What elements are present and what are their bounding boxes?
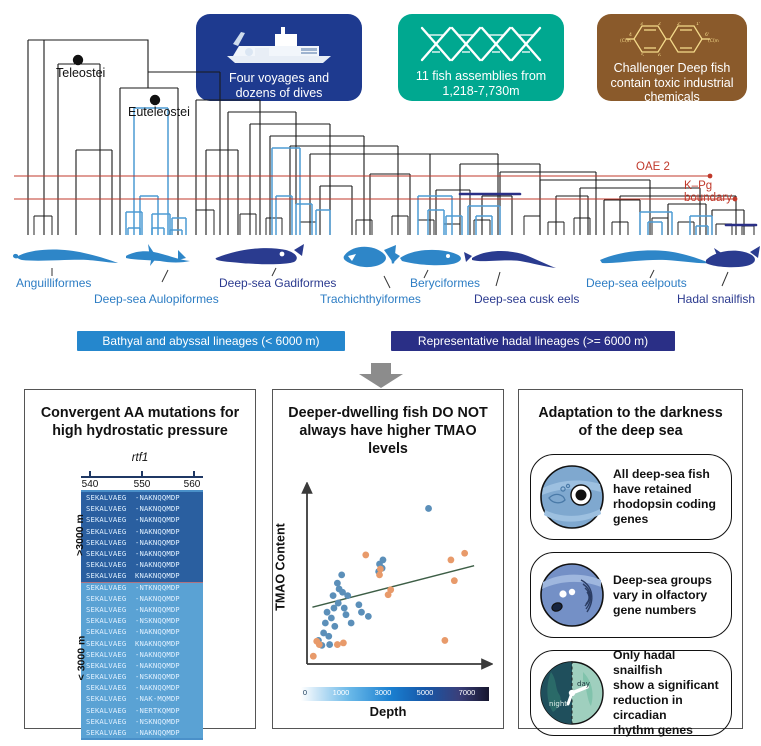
panel-left-title: Convergent AA mutations for high hydrost… [35,404,245,440]
panel-darkness-adaptation: Adaptation to the darkness of the deep s… [518,389,743,729]
alignment-seg-right: -NAK-MQMDP [135,694,195,703]
alignment-seg-right: -NAKNQQMDP [135,560,195,569]
scatter-point [343,611,350,618]
alignment-row: SEKALVAEG-NAKNQQMDP [81,537,203,548]
scatter-point [316,641,323,648]
epoch-label-kpg: K–Pg boundary [684,180,761,204]
depth-group-label-deep: >3000 m [74,514,86,556]
euteleostei-node-dot [150,95,160,105]
colorbar-tick-3000: 3000 [375,688,392,697]
fish-anguilliformes [13,250,118,263]
alignment-seg-left: SEKALVAEG [86,515,135,524]
scatter-point [461,550,468,557]
alignment-seg-right: -NAKNQQMDP [135,627,195,636]
legend-bathyal-abyssal: Bathyal and abyssal lineages (< 6000 m) [77,331,345,351]
scatter-point [377,566,384,573]
alignment-seg-left: SEKALVAEG [86,694,135,703]
alignment-row: SEKALVAEG-NAKNQQMDP [81,660,203,671]
tree-svg [0,0,761,250]
scatter-point [338,571,345,578]
fish-nose-icon [537,560,607,630]
axis-label-550: 550 [134,479,151,490]
alignment-seg-left: SEKALVAEG [86,627,135,636]
alignment-seg-right: -NAKNQQMDP [135,728,195,737]
fish-label-gadiformes: Deep-sea Gadiformes [219,276,336,290]
alignment-row: SEKALVAEG-NSKNQQMDP [81,716,203,727]
alignment-seg-right: -NSKNQQMDP [135,717,195,726]
alignment-seg-left: SEKALVAEG [86,616,135,625]
scatter-point [324,609,331,616]
scatter-plot: TMAO Content [285,482,493,678]
scatter-point [335,600,342,607]
scatter-point [334,641,341,648]
alignment-seg-left: SEKALVAEG [86,661,135,670]
axis-label-560: 560 [184,479,201,490]
finding-olfactory: Deep-sea groups vary in olfactory gene n… [530,552,732,638]
axis-tick-550 [141,471,143,478]
scatter-point [365,613,372,620]
alignment-seg-right: -NAKNQQMDP [135,515,195,524]
scatter-point [441,637,448,644]
finding-olfactory-text: Deep-sea groups vary in olfactory gene n… [613,573,718,618]
fish-label-trachichthyiformes: Trachichthyiformes [320,292,421,306]
alignment-seg-left: SEKALVAEG [86,639,135,648]
alignment-seg-right: -NERTKQMDP [135,706,195,715]
alignment-seg-left: SEKALVAEG [86,605,135,614]
legend-bathyal-text: Bathyal and abyssal lineages (< 6000 m) [102,334,319,348]
alignment-row: SEKALVAEG-NAKNQQMDP [81,492,203,503]
alignment-seg-right: KNAKNQQMDP [135,639,195,648]
alignment-seg-left: SEKALVAEG [86,583,135,592]
scatter-point [331,623,338,630]
panel-convergent-mutations: Convergent AA mutations for high hydrost… [24,389,256,729]
alignment-seg-left: SEKALVAEG [86,549,135,558]
alignment-seg-right: -NAKNQQMDP [135,493,195,502]
scatter-x-axis-label: Depth [273,704,503,719]
graphical-abstract: Four voyages and dozens of dives [0,0,761,746]
fish-gadiformes [216,244,304,264]
alignment-seg-right: -NTKNQQMDP [135,583,195,592]
scatter-point [362,552,369,559]
epoch-label-oae2: OAE 2 [636,161,670,173]
fish-eye-icon [537,462,607,532]
alignment-seg-right: -NAKNQQMDP [135,650,195,659]
axis-label-540: 540 [82,479,99,490]
alignment-row: SEKALVAEG-NTKNQQMDP [81,582,203,593]
fish-aulopiformes [126,244,190,266]
panel-right-title: Adaptation to the darkness of the deep s… [529,404,732,440]
residue-axis: 540 550 560 [81,468,203,490]
scatter-point [340,640,347,647]
alignment-seg-right: KNAKNQQMDP [135,571,195,580]
depth-group-label-shallow: < 3000 m [75,636,87,681]
scatter-point [355,601,362,608]
fish-label-aulopiformes: Deep-sea Aulopiformes [94,292,219,306]
sequence-alignment-block: SEKALVAEG-NAKNQQMDPSEKALVAEG-NAKNQQMDPSE… [81,490,203,740]
clock-day-night-icon: day night [537,658,607,728]
axis-tick-540 [89,471,91,478]
alignment-row: SEKALVAEGKNAKNQQMDP [81,570,203,581]
scatter-point [451,577,458,584]
alignment-seg-right: -NAKNQQMDP [135,527,195,536]
alignment-seg-right: -NSKNQQMDP [135,672,195,681]
colorbar-tick-0: 0 [303,688,307,697]
alignment-row: SEKALVAEG-NAKNQQMDP [81,526,203,537]
alignment-row: SEKALVAEGKNAKNQQMDP [81,637,203,648]
alignment-seg-left: SEKALVAEG [86,650,135,659]
finding-rhodopsin: All deep-sea fish have retained rhodopsi… [530,454,732,540]
oae2-marker [708,174,713,179]
fish-label-anguilliformes: Anguilliformes [16,276,91,290]
depth-colorbar: 0 1000 3000 5000 7000 [301,687,489,701]
finding-circadian: day night Only hadal snailfish show a si… [530,650,732,736]
alignment-seg-left: SEKALVAEG [86,504,135,513]
alignment-seg-left: SEKALVAEG [86,728,135,737]
alignment-row: SEKALVAEG-NAKNQQMDP [81,727,203,738]
svg-text:day: day [577,680,590,688]
fish-label-eelpouts: Deep-sea eelpouts [586,276,687,290]
scatter-point [376,571,383,578]
alignment-depth-divider [81,582,203,583]
scatter-point [387,586,394,593]
scatter-point [380,557,387,564]
scatter-point [425,505,432,512]
alignment-row: SEKALVAEG-NSKNQQMDP [81,615,203,626]
colorbar-tick-7000: 7000 [459,688,476,697]
down-arrow-icon [357,361,405,389]
colorbar-tick-5000: 5000 [417,688,434,697]
alignment-seg-left: SEKALVAEG [86,538,135,547]
scatter-points-layer [285,482,493,678]
alignment-row: SEKALVAEG-NAK-MQMDP [81,693,203,704]
alignment-row: SEKALVAEG-NAKNQQMDP [81,514,203,525]
fish-label-cusk-eels: Deep-sea cusk eels [474,292,579,306]
scatter-point [322,620,329,627]
alignment-row: SEKALVAEG-NAKNQQMDP [81,682,203,693]
alignment-row: SEKALVAEG-NAKNQQMDP [81,593,203,604]
alignment-seg-left: SEKALVAEG [86,706,135,715]
tree-label-teleostei: Teleostei [56,66,105,80]
teleostei-node-dot [73,55,83,65]
axis-tick-560 [193,471,195,478]
alignment-row: SEKALVAEG-NERTKQMDP [81,705,203,716]
alignment-seg-right: -NAKNQQMDP [135,594,195,603]
panel-tmao-scatter: Deeper-dwelling fish DO NOT always have … [272,389,504,729]
alignment-seg-left: SEKALVAEG [86,527,135,536]
phylogenetic-tree: Teleostei Euteleostei OAE 2 K–Pg boundar… [0,0,761,250]
legend-hadal-text: Representative hadal lineages (>= 6000 m… [418,334,648,348]
alignment-seg-right: -NAKNQQMDP [135,683,195,692]
alignment-seg-right: -NAKNQQMDP [135,605,195,614]
alignment-row: SEKALVAEG-NAKNQQMDP [81,604,203,615]
alignment-seg-right: -NAKNQQMDP [135,504,195,513]
alignment-seg-right: -NAKNQQMDP [135,538,195,547]
alignment-seg-left: SEKALVAEG [86,493,135,502]
legend-hadal: Representative hadal lineages (>= 6000 m… [391,331,675,351]
panel-mid-title: Deeper-dwelling fish DO NOT always have … [283,404,493,458]
scatter-point [330,592,337,599]
scatter-point [334,580,341,587]
alignment-seg-left: SEKALVAEG [86,594,135,603]
scatter-point [341,605,348,612]
fish-silhouette-row: Anguilliformes Deep-sea Aulopiformes Dee… [0,236,761,316]
scatter-point [326,641,333,648]
finding-rhodopsin-text: All deep-sea fish have retained rhodopsi… [613,467,722,527]
scatter-point [310,653,317,660]
alignment-row: SEKALVAEG-NAKNQQMDP [81,626,203,637]
finding-circadian-text: Only hadal snailfish show a significant … [613,648,731,738]
tree-label-euteleostei: Euteleostei [128,105,190,119]
alignment-row: SEKALVAEG-NAKNQQMDP [81,548,203,559]
fish-label-beryciformes: Beryciformes [410,276,480,290]
alignment-seg-left: SEKALVAEG [86,717,135,726]
scatter-point [325,633,332,640]
alignment-row: SEKALVAEG-NSKNQQMDP [81,671,203,682]
scatter-point [358,609,365,616]
alignment-seg-left: SEKALVAEG [86,571,135,580]
scatter-point [328,615,335,622]
alignment-seg-left: SEKALVAEG [86,672,135,681]
alignment-seg-left: SEKALVAEG [86,683,135,692]
alignment-seg-right: -NSKNQQMDP [135,616,195,625]
colorbar-tick-1000: 1000 [333,688,350,697]
alignment-seg-left: SEKALVAEG [86,560,135,569]
scatter-point [344,592,351,599]
scatter-point [448,557,455,564]
alignment-row: SEKALVAEG-NAKNQQMDP [81,503,203,514]
alignment-seg-right: -NAKNQQMDP [135,661,195,670]
alignment-row: SEKALVAEG-NAKNQQMDP [81,559,203,570]
scatter-point [348,620,355,627]
svg-text:night: night [549,700,567,708]
fish-beryciformes [390,250,461,265]
fish-label-hadal-snailfish: Hadal snailfish [677,292,755,306]
alignment-seg-right: -NAKNQQMDP [135,549,195,558]
gene-name-label: rtf1 [25,452,255,464]
alignment-row: SEKALVAEG-NAKNQQMDP [81,649,203,660]
